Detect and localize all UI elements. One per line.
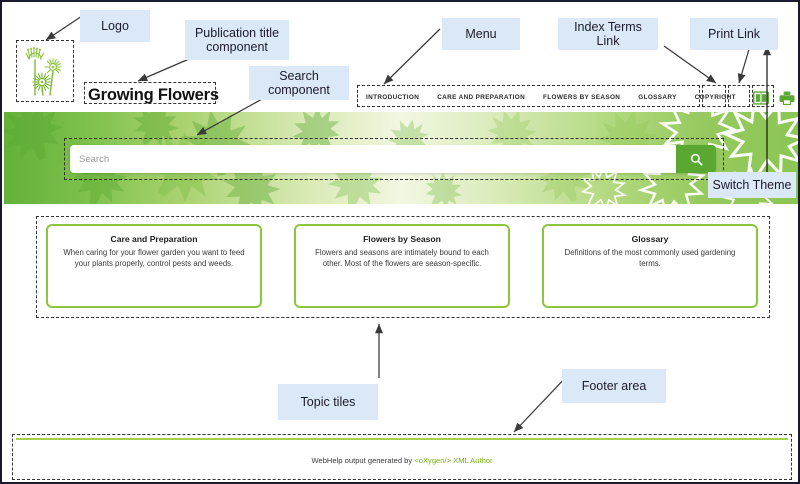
arrow-pub-title	[138, 59, 189, 81]
callout-label: Menu	[465, 27, 496, 41]
logo[interactable]	[16, 40, 74, 102]
callout-tiles: Topic tiles	[278, 384, 378, 420]
callout-label: Topic tiles	[301, 395, 356, 409]
footer-text: WebHelp output generated by <oXygen/> XM…	[16, 456, 788, 465]
main-menu[interactable]: INTRODUCTION CARE AND PREPARATION FLOWER…	[357, 88, 800, 107]
callout-label: Search component	[253, 69, 345, 98]
index-terms-link[interactable]	[753, 91, 769, 105]
webhelp-layout-diagram: Growing Flowers INTRODUCTION CARE AND PR…	[0, 0, 800, 484]
search-input[interactable]	[70, 145, 676, 173]
menu-item-flowers-by-season[interactable]: FLOWERS BY SEASON	[534, 94, 629, 101]
arrow-footer	[514, 375, 568, 432]
search-icon	[690, 153, 703, 166]
index-terms-icon	[753, 91, 769, 105]
callout-label: Switch Theme	[713, 178, 792, 192]
callout-label: Print Link	[708, 27, 760, 41]
print-icon	[779, 91, 795, 105]
search-component[interactable]	[70, 145, 716, 173]
tile-description: When caring for your flower garden you w…	[60, 247, 248, 270]
callout-label: Footer area	[582, 379, 647, 393]
flowers-logo-icon	[23, 45, 67, 97]
tile-title: Flowers by Season	[308, 234, 496, 244]
callout-menu: Menu	[442, 18, 520, 50]
menu-item-introduction[interactable]: INTRODUCTION	[357, 94, 428, 101]
callout-print: Print Link	[690, 18, 778, 50]
topic-tile[interactable]: Flowers by Season Flowers and seasons ar…	[294, 224, 510, 308]
topic-tile[interactable]: Glossary Definitions of the most commonl…	[542, 224, 758, 308]
tile-title: Glossary	[556, 234, 744, 244]
footer-area: WebHelp output generated by <oXygen/> XM…	[16, 438, 788, 478]
callout-index-terms: Index Terms Link	[558, 18, 658, 50]
callout-pub-title: Publication title component	[185, 20, 289, 60]
tile-description: Definitions of the most commonly used ga…	[556, 247, 744, 270]
callout-label: Logo	[101, 19, 129, 33]
callout-footer: Footer area	[562, 369, 666, 403]
tile-description: Flowers and seasons are intimately bound…	[308, 247, 496, 270]
callout-switch-theme: Switch Theme	[708, 172, 796, 198]
menu-item-copyright[interactable]: COPYRIGHT	[686, 94, 745, 101]
callout-label: Index Terms Link	[562, 20, 654, 49]
callout-label: Publication title component	[189, 26, 285, 55]
arrow-menu	[384, 29, 440, 84]
topic-tile[interactable]: Care and Preparation When caring for you…	[46, 224, 262, 308]
topic-tiles: Care and Preparation When caring for you…	[46, 224, 758, 308]
arrow-index-terms	[664, 46, 716, 83]
callout-logo: Logo	[80, 10, 150, 42]
arrow-print	[739, 46, 750, 83]
callout-search: Search component	[249, 66, 349, 100]
menu-item-care-and-preparation[interactable]: CARE AND PREPARATION	[428, 94, 534, 101]
search-button[interactable]	[676, 145, 716, 173]
footer-prefix: WebHelp output generated by	[311, 456, 414, 465]
tile-title: Care and Preparation	[60, 234, 248, 244]
menu-item-glossary[interactable]: GLOSSARY	[629, 94, 685, 101]
print-link[interactable]	[779, 91, 795, 105]
footer-link[interactable]: <oXygen/> XML Author	[414, 456, 492, 465]
publication-title[interactable]: Growing Flowers	[88, 86, 219, 105]
arrow-logo	[46, 16, 82, 40]
